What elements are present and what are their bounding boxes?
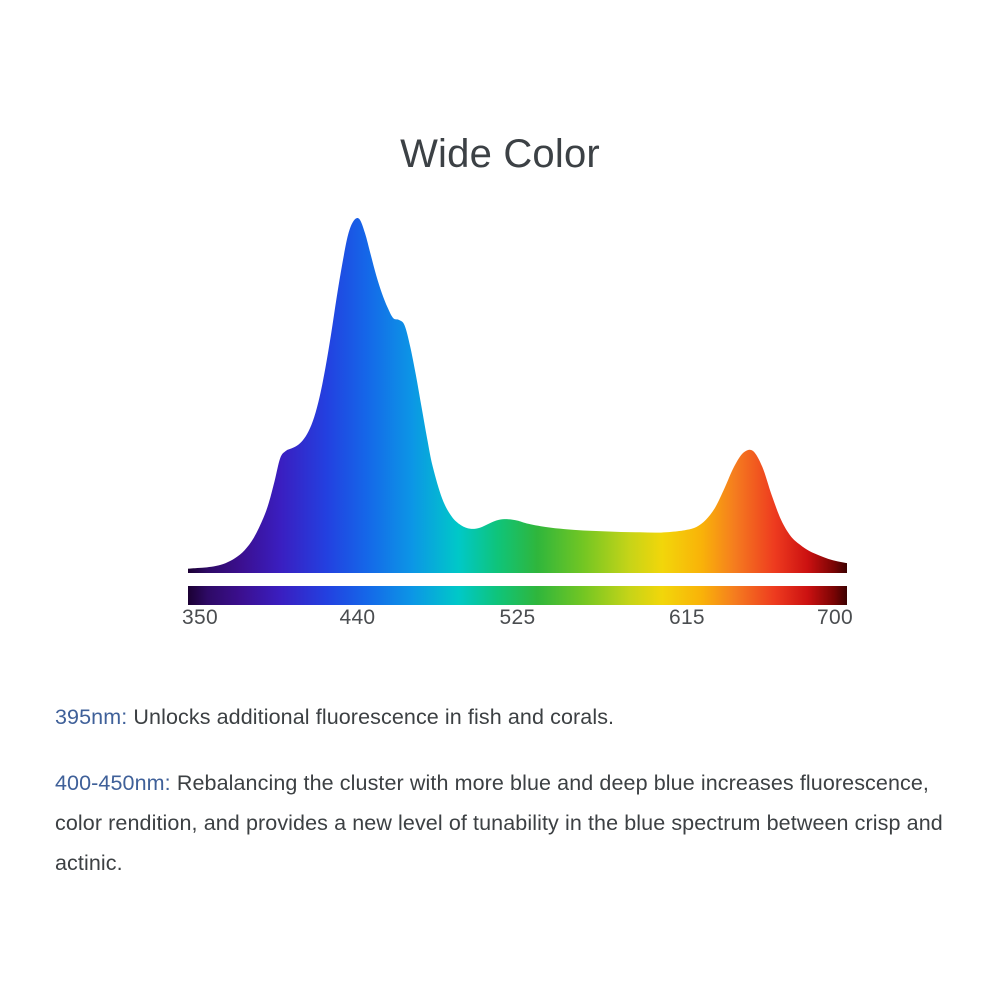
axis-tick-350: 350 <box>182 606 218 630</box>
page-title: Wide Color <box>0 130 1000 178</box>
note-item: 395nm: Unlocks additional fluorescence i… <box>55 697 955 737</box>
spectrum-colorbar <box>188 586 847 605</box>
spectrum-plot <box>0 190 1000 590</box>
axis-tick-615: 615 <box>669 606 705 630</box>
wide-color-page: Wide Color <box>0 0 1000 1000</box>
axis-tick-700: 700 <box>817 606 853 630</box>
axis-tick-440: 440 <box>339 606 375 630</box>
spectrum-chart <box>0 190 1000 590</box>
note-wavelength-key: 395nm: <box>55 705 127 729</box>
note-wavelength-key: 400-450nm: <box>55 771 171 795</box>
note-text: Unlocks additional fluorescence in fish … <box>127 705 614 729</box>
note-text: Rebalancing the cluster with more blue a… <box>55 771 943 875</box>
spectrum-area <box>188 218 847 573</box>
note-item: 400-450nm: Rebalancing the cluster with … <box>55 763 955 883</box>
axis-tick-525: 525 <box>500 606 536 630</box>
notes-list: 395nm: Unlocks additional fluorescence i… <box>55 697 955 883</box>
axis-tick-labels: 350440525615700 <box>0 606 1000 640</box>
